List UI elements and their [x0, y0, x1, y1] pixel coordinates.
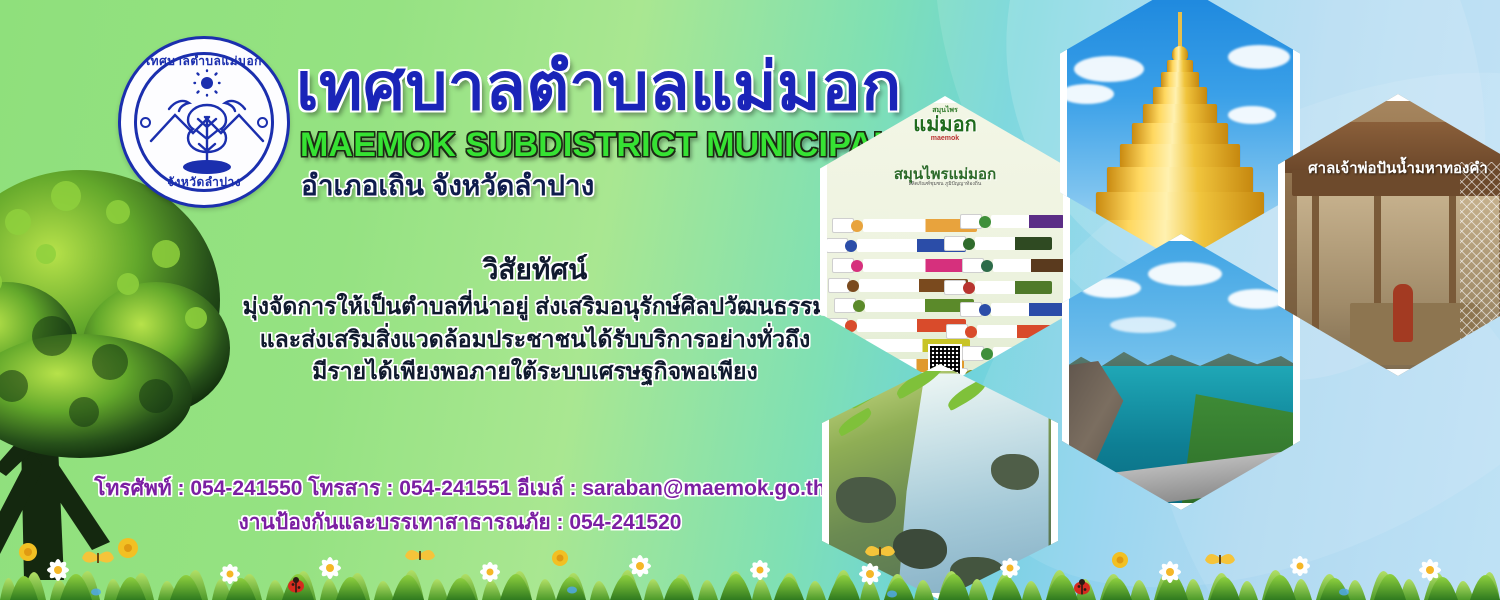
mountain-icon	[205, 115, 263, 141]
hex-frame	[820, 96, 1070, 386]
hex-golden-pagoda-photo[interactable]: วัดพ บ้านกุ่ อำเภ	[1060, 0, 1300, 262]
vision-line-1: มุ่งจัดการให้เป็นตำบลที่น่าอยู่ ส่งเสริม…	[190, 290, 880, 323]
hex-frame	[1060, 0, 1300, 262]
yellow-flowers	[19, 538, 1128, 568]
municipality-seal: เทศบาลตำบลแม่มอก จังหวัดลำปาง	[118, 36, 290, 208]
seal-emblem	[147, 69, 267, 181]
hex-reservoir-dam-photo[interactable]	[1062, 234, 1300, 510]
pagoda-overlay-line2: อำเภ	[1271, 26, 1290, 40]
hex-shrine-photo[interactable]: ศาลเจ้าพ่อปันน้ำมหาทองคำ	[1278, 94, 1500, 376]
pagoda-overlay-line1: บ้านกุ่	[1265, 12, 1290, 27]
poster-legend	[834, 355, 860, 376]
municipality-banner: เทศบาลตำบลแม่มอก จังหวัดลำปาง	[0, 0, 1500, 600]
hexagon-photo-collage: สมุนไพร แม่มอก maemok สมุนไพรแม่มอก ผลิต…	[800, 0, 1500, 576]
page-subtitle: อำเภอเถิน จังหวัดลำปาง	[301, 172, 594, 200]
butterfly-icon	[82, 546, 1235, 564]
vision-heading: วิสัยทัศน์	[190, 252, 880, 287]
hex-frame	[1278, 94, 1500, 376]
vision-line-3: มีรายได้เพียงพอภายใต้ระบบเศรษฐกิจพอเพียง	[190, 355, 880, 388]
hex-frame	[1062, 234, 1300, 510]
mountain-icon	[151, 115, 209, 141]
grass-decoration-strip	[0, 508, 1500, 600]
vision-block: วิสัยทัศน์ มุ่งจัดการให้เป็นตำบลที่น่าอย…	[190, 252, 880, 388]
sun-icon	[201, 77, 213, 89]
contact-line-phone-fax-email[interactable]: โทรศัพท์ : 054-241550 โทรสาร : 054-24155…	[60, 473, 860, 505]
ground-icon	[183, 160, 231, 174]
pagoda-overlay-title: วัดพ	[1262, 0, 1292, 13]
bird-icon	[225, 101, 245, 111]
vision-line-2: และส่งเสริมสิ่งแวดล้อมประชาชนได้รับบริกา…	[190, 323, 880, 356]
bird-icon	[169, 101, 189, 111]
hex-herbal-products-poster[interactable]: สมุนไพร แม่มอก maemok สมุนไพรแม่มอก ผลิต…	[820, 96, 1070, 386]
